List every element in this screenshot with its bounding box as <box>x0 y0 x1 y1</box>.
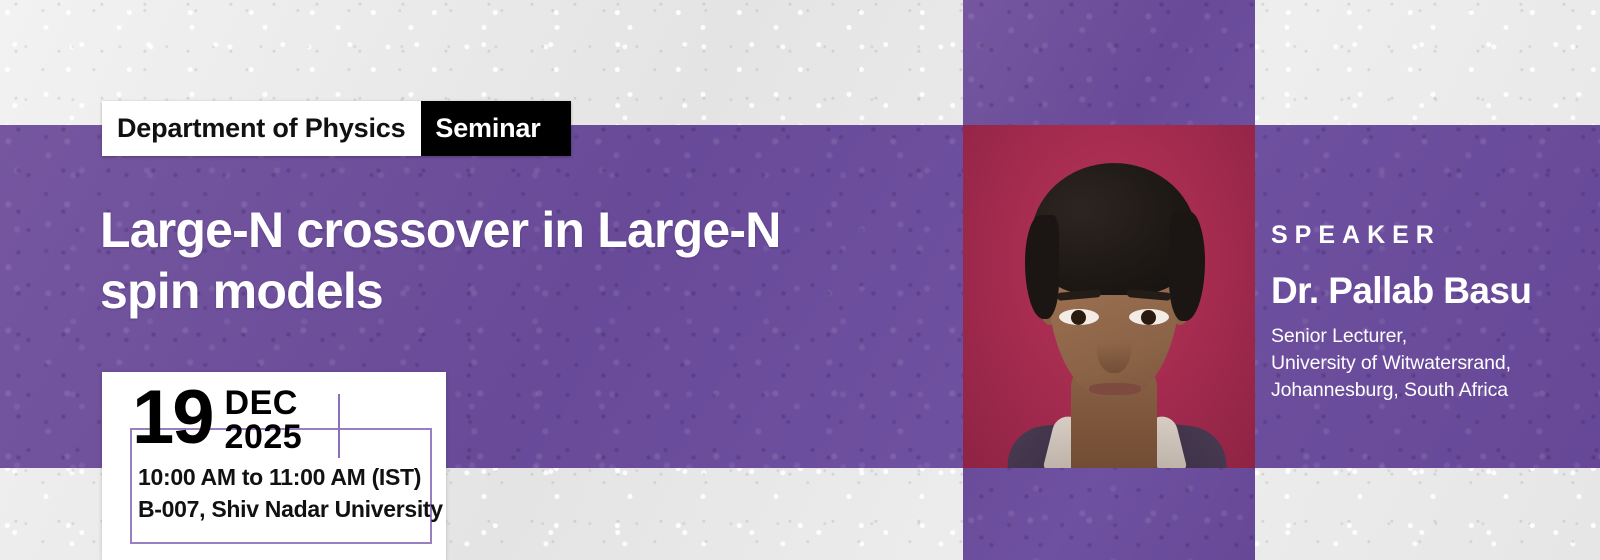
speaker-name: Dr. Pallab Basu <box>1271 272 1591 311</box>
event-time: 10:00 AM to 11:00 AM (IST) <box>138 464 443 491</box>
speaker-label: SPEAKER <box>1271 222 1591 250</box>
speaker-affiliation-line-3: Johannesburg, South Africa <box>1271 377 1591 404</box>
speaker-affiliation-line-2: University of Witwatersrand, <box>1271 350 1591 377</box>
talk-title: Large-N crossover in Large-N spin models <box>100 200 880 322</box>
photo-pupil-left <box>1071 310 1086 325</box>
photo-pupil-right <box>1141 310 1156 325</box>
header-badge: Department of Physics Seminar <box>102 101 571 156</box>
department-label: Department of Physics <box>102 101 421 156</box>
talk-title-line-2: spin models <box>100 261 880 322</box>
speaker-affiliation: Senior Lecturer, University of Witwaters… <box>1271 323 1591 404</box>
photo-nose <box>1097 321 1131 373</box>
date-details: 10:00 AM to 11:00 AM (IST) B-007, Shiv N… <box>138 464 443 523</box>
speaker-affiliation-line-1: Senior Lecturer, <box>1271 323 1591 350</box>
date-divider-rule <box>338 394 340 458</box>
date-card: 19 DEC 2025 10:00 AM to 11:00 AM (IST) B… <box>102 372 446 560</box>
speaker-block: SPEAKER Dr. Pallab Basu Senior Lecturer,… <box>1271 222 1591 404</box>
date-year: 2025 <box>225 420 303 454</box>
seminar-poster: Department of Physics Seminar Large-N cr… <box>0 0 1600 560</box>
date-heading: 19 DEC 2025 <box>132 382 302 454</box>
photo-eye-left <box>1059 309 1099 325</box>
date-month: DEC <box>225 386 303 420</box>
photo-mouth <box>1089 383 1141 395</box>
event-venue: B-007, Shiv Nadar University <box>138 496 443 523</box>
speaker-photo <box>963 125 1255 468</box>
photo-eye-right <box>1129 309 1169 325</box>
date-day: 19 <box>132 382 213 454</box>
talk-title-line-1: Large-N crossover in Large-N <box>100 200 880 261</box>
date-month-year: DEC 2025 <box>225 386 303 454</box>
event-type-label: Seminar <box>421 101 570 156</box>
